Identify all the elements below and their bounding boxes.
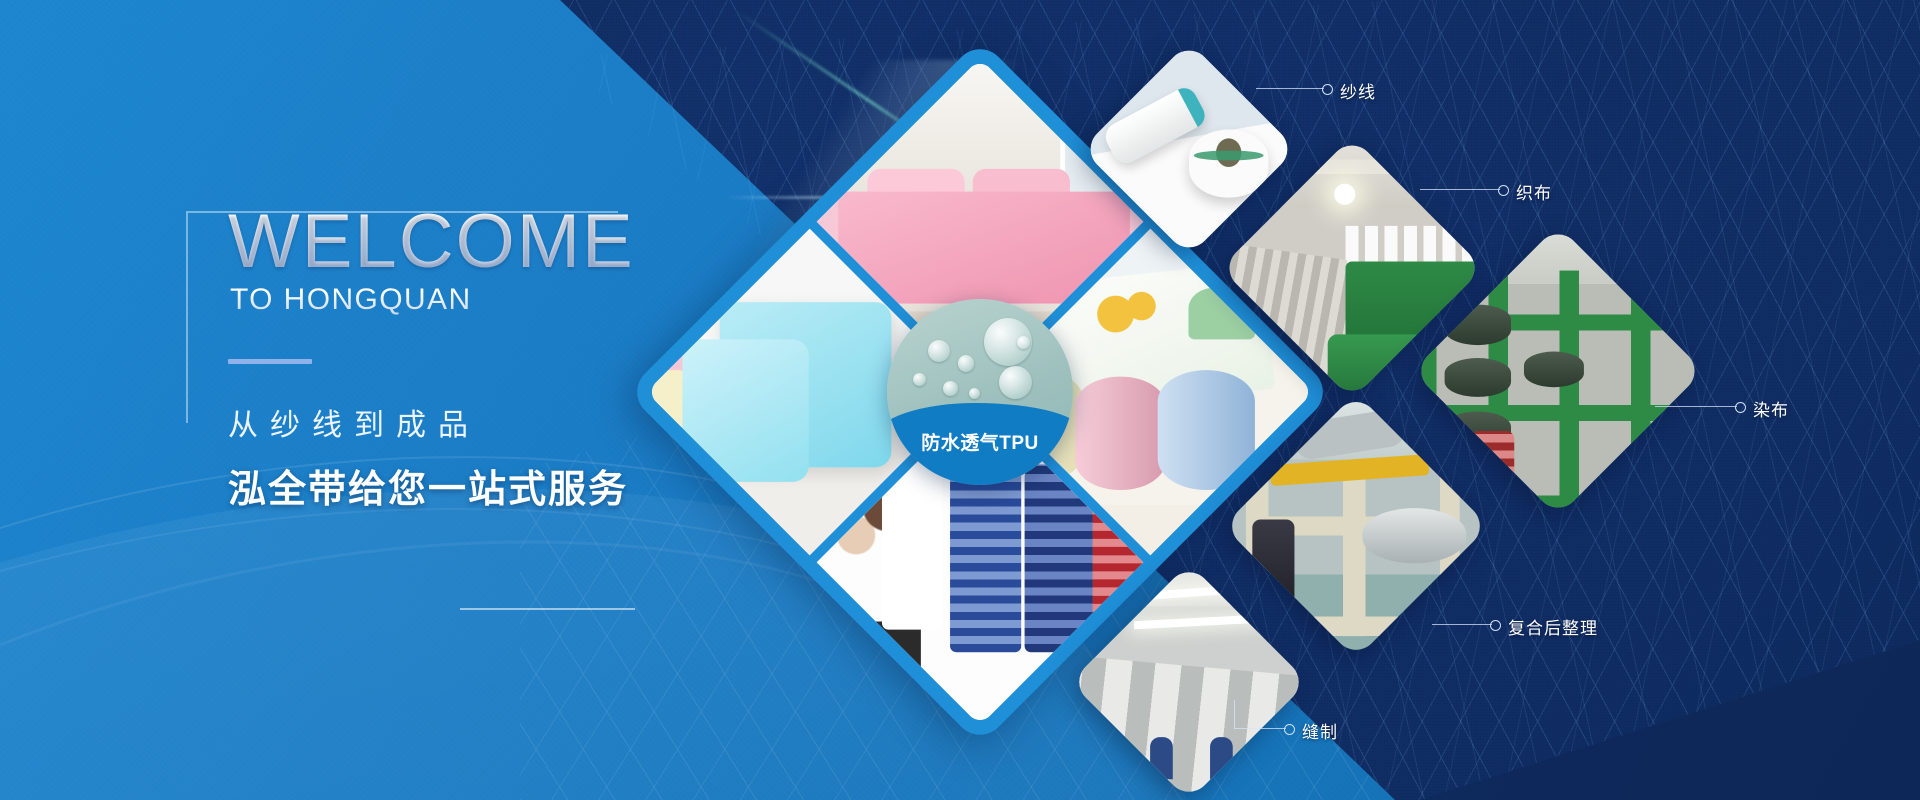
- process-label-dyeing: 染布: [1753, 396, 1789, 421]
- leader-knob-sewing: [1284, 724, 1295, 735]
- leader-line-yarn: [1256, 88, 1324, 89]
- bracket-frame: [186, 211, 618, 423]
- leader-knob-dyeing: [1735, 402, 1746, 413]
- bottom-rule: [460, 608, 635, 610]
- leader-line-sewing-vertical: [1234, 700, 1235, 728]
- hero-banner: WELCOME TO HONGQUAN 从纱线到成品 泓全带给您一站式服务: [0, 0, 1920, 800]
- leader-knob-finishing: [1490, 620, 1501, 631]
- leader-knob-weaving: [1498, 185, 1509, 196]
- process-label-sewing: 缝制: [1302, 718, 1338, 743]
- leader-line-dyeing: [1655, 406, 1737, 407]
- leader-line-sewing: [1234, 728, 1286, 729]
- tpu-badge[interactable]: 防水透气TPU: [887, 299, 1073, 485]
- process-label-finishing: 复合后整理: [1508, 614, 1598, 639]
- leader-line-finishing: [1432, 624, 1492, 625]
- leader-knob-yarn: [1322, 84, 1333, 95]
- tpu-badge-label: 防水透气TPU: [887, 428, 1073, 455]
- leader-line-weaving: [1420, 189, 1500, 190]
- process-label-weaving: 织布: [1516, 179, 1552, 204]
- process-label-yarn: 纱线: [1340, 78, 1376, 103]
